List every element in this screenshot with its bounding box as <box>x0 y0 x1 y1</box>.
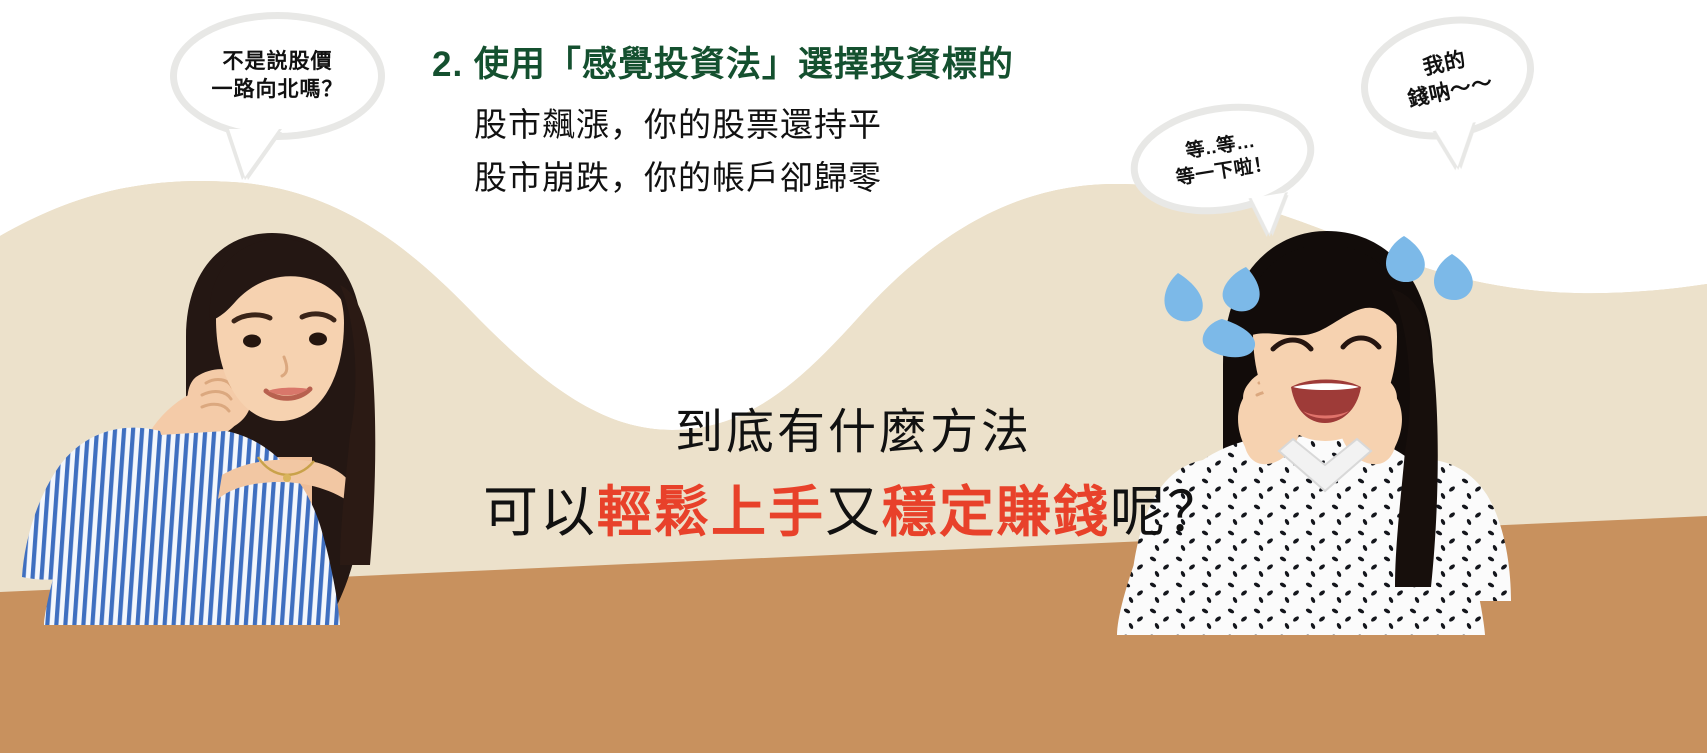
speech-bubble-middle-right-tail <box>1251 193 1291 236</box>
speech-bubble-left-line-2: 一路向北嗎？ <box>212 76 344 104</box>
speech-bubble-left: 不是説股價 一路向北嗎？ <box>170 12 385 140</box>
closing-part-c: 又 <box>825 481 882 543</box>
closing-highlight-easy: 輕鬆上手 <box>597 481 825 543</box>
speech-bubble-far-right-tail <box>1436 123 1481 170</box>
closing-question-block: 到底有什麼方法 可以輕鬆上手又穩定賺錢呢？ <box>0 404 1707 546</box>
speech-bubble-left-line-1: 不是説股價 <box>223 48 333 76</box>
poster-canvas: 2. 使用「感覺投資法」選擇投資標的 股市飆漲，你的股票還持平 股市崩跌，你的帳… <box>0 0 1707 753</box>
closing-line-2: 可以輕鬆上手又穩定賺錢呢？ <box>0 478 1707 547</box>
subtitle-block: 股市飆漲，你的股票還持平 股市崩跌，你的帳戶卻歸零 <box>474 98 882 205</box>
speech-bubble-left-tail <box>229 129 279 177</box>
teardrops-right-icon <box>1378 222 1488 312</box>
closing-part-a: 可以 <box>483 481 597 543</box>
closing-line-1: 到底有什麼方法 <box>0 404 1707 462</box>
closing-part-e: 呢？ <box>1110 481 1224 543</box>
teardrops-icon <box>1150 255 1360 365</box>
closing-highlight-stable: 穩定賺錢 <box>882 481 1110 543</box>
page-title: 2. 使用「感覺投資法」選擇投資標的 <box>432 36 1014 87</box>
subtitle-line-2: 股市崩跌，你的帳戶卻歸零 <box>474 151 882 204</box>
subtitle-line-1: 股市飆漲，你的股票還持平 <box>474 98 882 151</box>
